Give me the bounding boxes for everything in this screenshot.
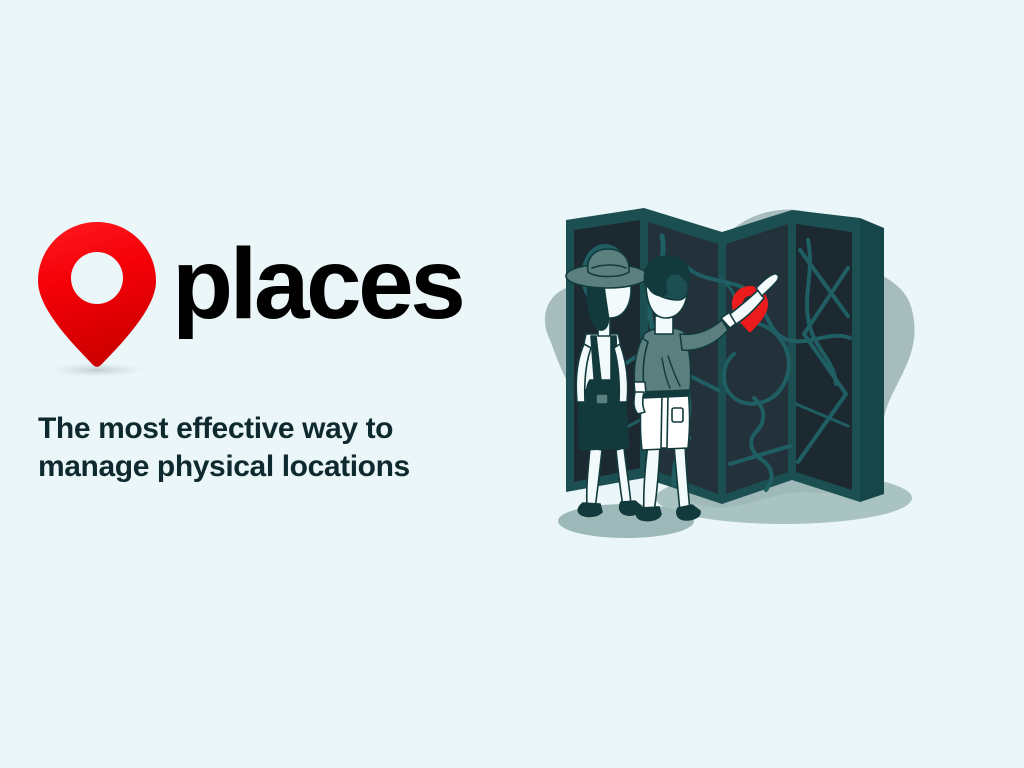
brand-wordmark: places: [172, 234, 462, 334]
brand-block: places The most effective way to manage …: [38, 222, 508, 486]
map-illustration: [492, 158, 922, 558]
hero-banner: places The most effective way to manage …: [0, 0, 1024, 768]
logo-row: places: [38, 222, 508, 390]
map-pin-icon: [38, 222, 156, 380]
brand-tagline: The most effective way to manage physica…: [38, 410, 468, 486]
